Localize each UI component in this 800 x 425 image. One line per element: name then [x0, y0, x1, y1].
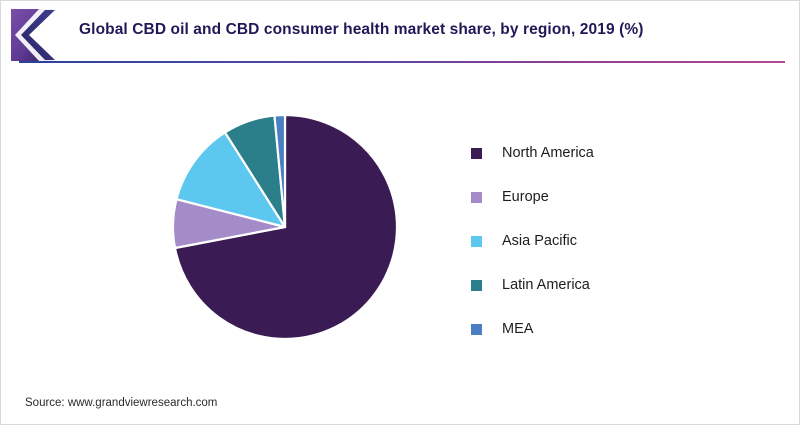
legend-swatch-icon: [471, 280, 482, 291]
pie-slice-group: [173, 115, 397, 339]
page-title: Global CBD oil and CBD consumer health m…: [79, 21, 779, 39]
chart-header: Global CBD oil and CBD consumer health m…: [1, 1, 800, 69]
legend-swatch-icon: [471, 148, 482, 159]
legend-label: Asia Pacific: [502, 234, 577, 248]
legend-swatch-icon: [471, 324, 482, 335]
legend-item-asia-pacific[interactable]: Asia Pacific: [471, 234, 594, 248]
chart-body: North AmericaEuropeAsia PacificLatin Ame…: [1, 69, 800, 384]
header-divider: [19, 61, 785, 63]
legend-label: Latin America: [502, 278, 590, 292]
legend-swatch-icon: [471, 192, 482, 203]
legend-item-latin-america[interactable]: Latin America: [471, 278, 594, 292]
pie-chart-svg: [172, 114, 398, 340]
legend-swatch-icon: [471, 236, 482, 247]
grand-view-research-logo-icon: [9, 9, 71, 61]
chart-legend: North AmericaEuropeAsia PacificLatin Ame…: [471, 146, 594, 366]
legend-item-north-america[interactable]: North America: [471, 146, 594, 160]
chart-card: Global CBD oil and CBD consumer health m…: [0, 0, 800, 425]
legend-item-europe[interactable]: Europe: [471, 190, 594, 204]
pie-chart: [172, 114, 398, 340]
legend-label: MEA: [502, 322, 533, 336]
source-note: Source: www.grandviewresearch.com: [25, 397, 217, 409]
legend-label: Europe: [502, 190, 549, 204]
legend-item-mea[interactable]: MEA: [471, 322, 594, 336]
legend-label: North America: [502, 146, 594, 160]
